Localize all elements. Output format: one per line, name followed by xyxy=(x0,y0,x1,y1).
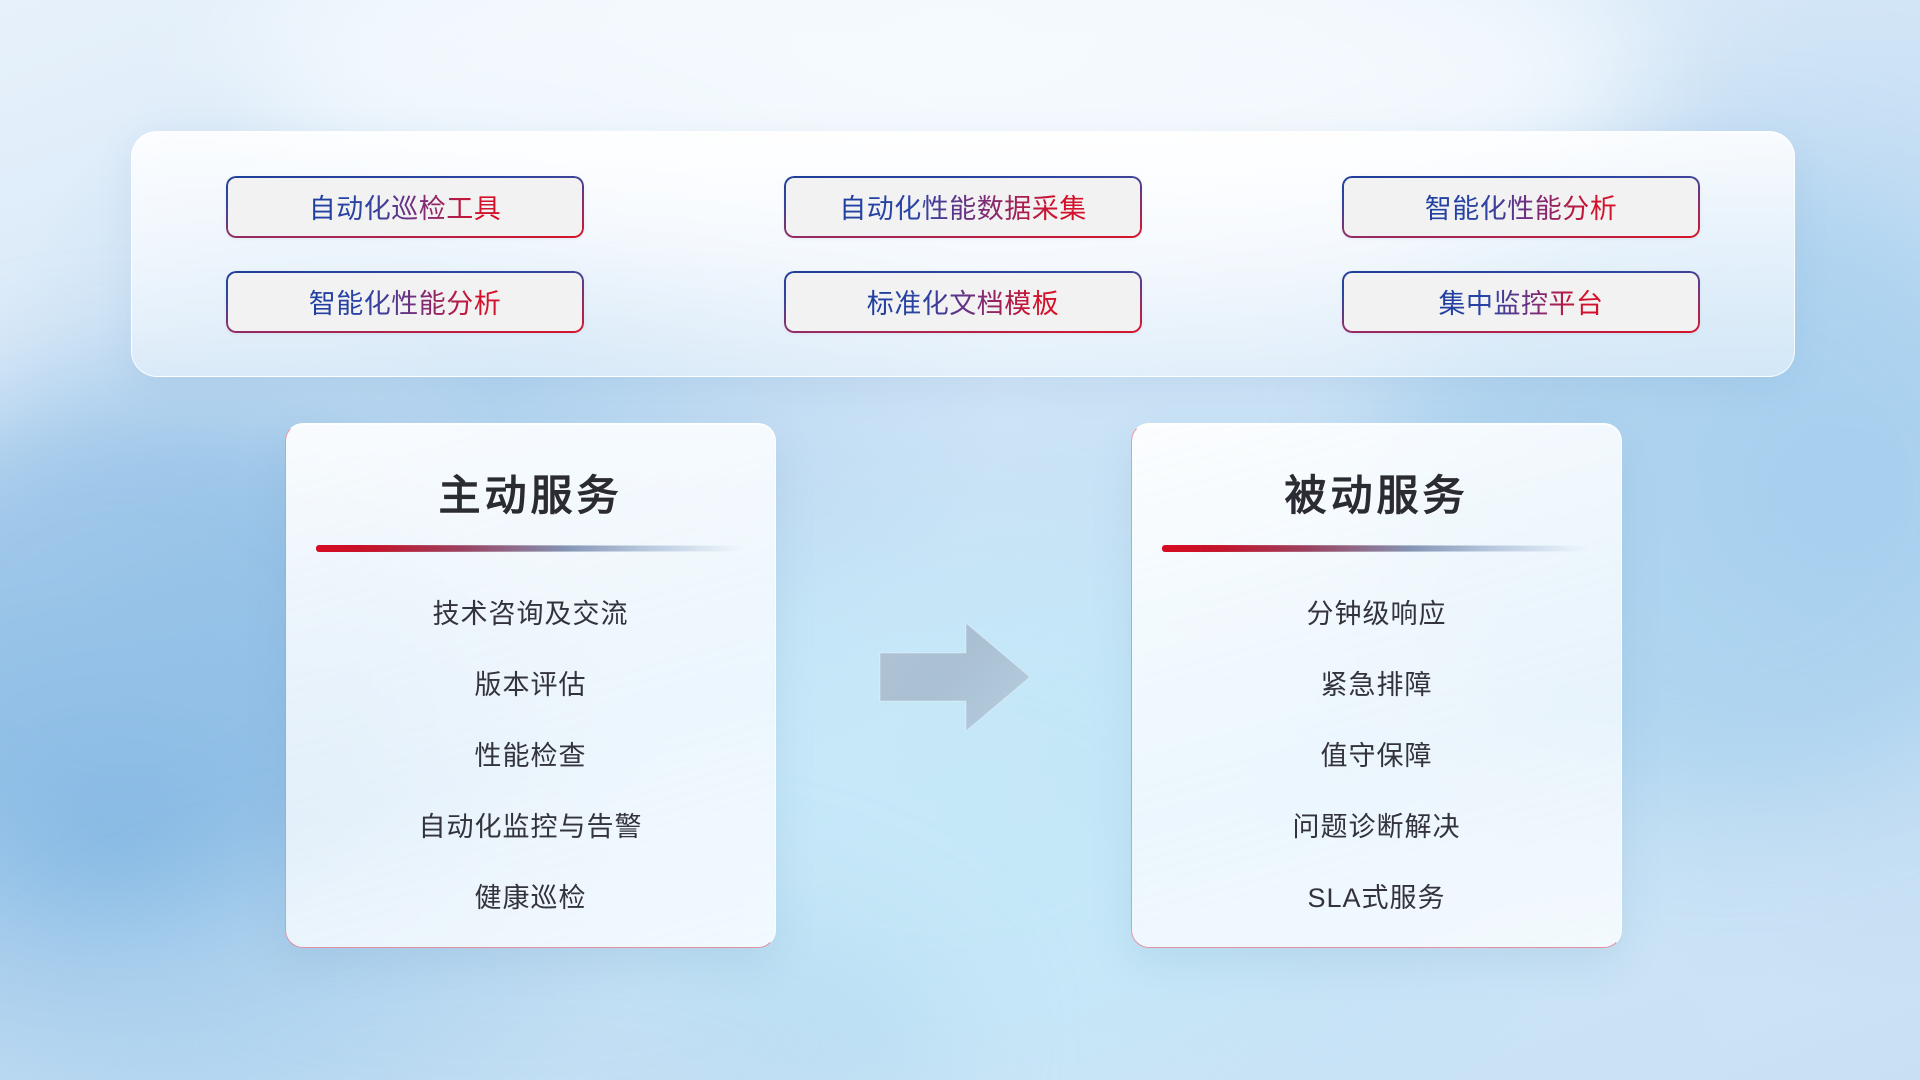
capability-pill-label: 智能化性能分析 xyxy=(309,282,502,321)
capability-pill-intelligent-performance-analysis-top[interactable]: 智能化性能分析 xyxy=(1342,176,1700,238)
card-title: 主动服务 xyxy=(438,462,622,523)
service-card-proactive: 主动服务 技术咨询及交流 版本评估 性能检查 自动化监控与告警 健康巡检 xyxy=(285,423,776,948)
list-item: 健康巡检 xyxy=(475,870,587,927)
capability-pill-label: 智能化性能分析 xyxy=(1425,187,1618,226)
list-item: 问题诊断解决 xyxy=(1293,799,1461,856)
capabilities-row-1: 自动化巡检工具 自动化性能数据采集 智能化性能分析 xyxy=(132,176,1794,238)
capability-pill-label: 自动化性能数据采集 xyxy=(839,187,1087,226)
card-title-divider xyxy=(1162,545,1592,552)
card-title-divider xyxy=(316,545,746,552)
capability-pill-standardized-document-template[interactable]: 标准化文档模板 xyxy=(784,271,1142,333)
capability-pill-automated-performance-data-collection[interactable]: 自动化性能数据采集 xyxy=(784,176,1142,238)
list-item: 紧急排障 xyxy=(1321,657,1433,714)
card-item-list: 技术咨询及交流 版本评估 性能检查 自动化监控与告警 健康巡检 xyxy=(286,586,775,927)
capabilities-panel: 自动化巡检工具 自动化性能数据采集 智能化性能分析 智能化性能分析 标准化文档模… xyxy=(131,131,1795,377)
list-item: 技术咨询及交流 xyxy=(433,586,629,643)
capability-pill-centralized-monitoring-platform[interactable]: 集中监控平台 xyxy=(1342,271,1700,333)
list-item: 自动化监控与告警 xyxy=(419,799,643,856)
list-item: 性能检查 xyxy=(475,728,587,785)
card-title: 被动服务 xyxy=(1284,462,1468,523)
card-item-list: 分钟级响应 紧急排障 值守保障 问题诊断解决 SLA式服务 xyxy=(1132,586,1621,927)
capability-pill-label: 集中监控平台 xyxy=(1439,282,1604,321)
list-item: SLA式服务 xyxy=(1307,870,1445,927)
service-card-reactive: 被动服务 分钟级响应 紧急排障 值守保障 问题诊断解决 SLA式服务 xyxy=(1131,423,1622,948)
capability-pill-label: 标准化文档模板 xyxy=(867,282,1060,321)
capability-pill-intelligent-performance-analysis-bottom[interactable]: 智能化性能分析 xyxy=(226,271,584,333)
list-item: 分钟级响应 xyxy=(1307,586,1447,643)
capabilities-row-2: 智能化性能分析 标准化文档模板 集中监控平台 xyxy=(132,271,1794,333)
capability-pill-automated-inspection-tool[interactable]: 自动化巡检工具 xyxy=(226,176,584,238)
list-item: 值守保障 xyxy=(1321,728,1433,785)
right-arrow-icon xyxy=(874,617,1036,737)
list-item: 版本评估 xyxy=(475,657,587,714)
slide-canvas: 自动化巡检工具 自动化性能数据采集 智能化性能分析 智能化性能分析 标准化文档模… xyxy=(0,0,1920,1080)
capability-pill-label: 自动化巡检工具 xyxy=(309,187,502,226)
